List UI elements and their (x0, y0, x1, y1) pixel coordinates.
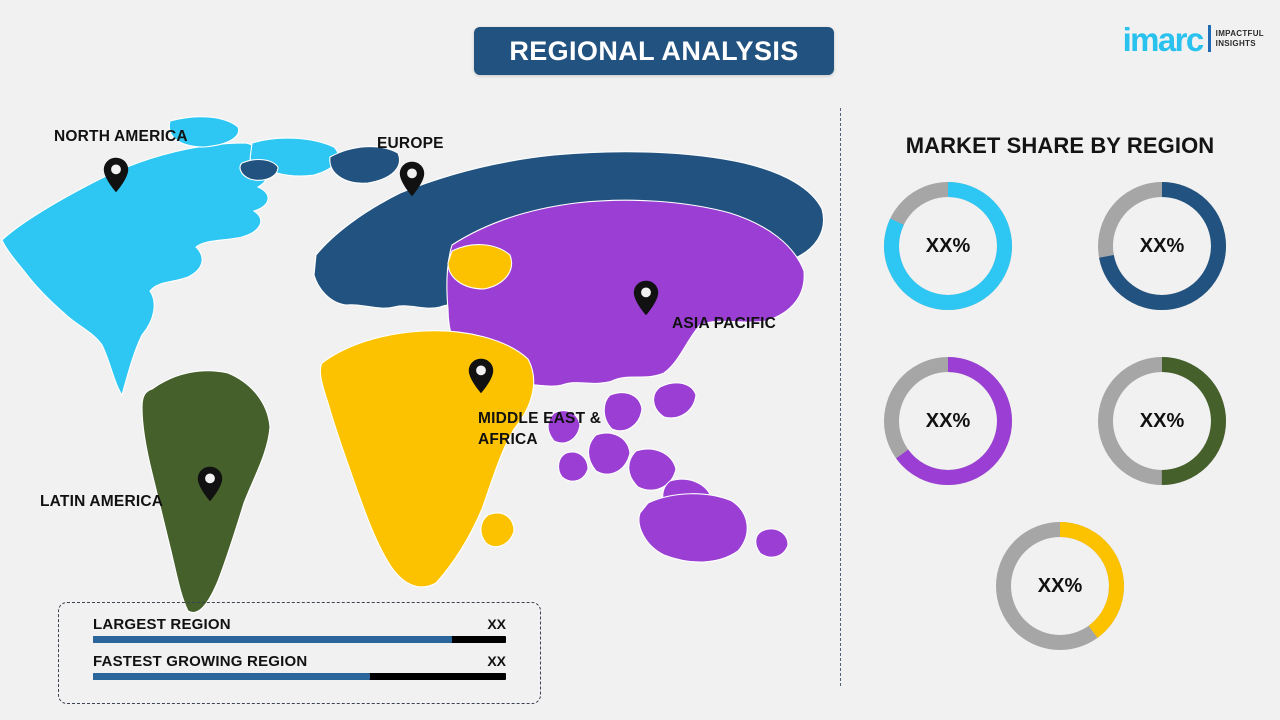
imarc-logo: imarc IMPACTFUL INSIGHTS (1123, 22, 1264, 55)
donut-chart-3: XX% (884, 357, 1012, 485)
region-summary-label: LARGEST REGION (93, 616, 231, 633)
logo-tagline-line2: INSIGHTS (1216, 39, 1264, 49)
map-region-asia (559, 452, 588, 481)
map-pin-north-america[interactable] (103, 157, 129, 198)
map-region-africa (481, 513, 514, 547)
region-summary-row: FASTEST GROWING REGIONXX (93, 653, 506, 680)
region-summary-rows: LARGEST REGIONXXFASTEST GROWING REGIONXX (93, 616, 506, 680)
logo-tagline-line1: IMPACTFUL (1216, 29, 1264, 39)
logo-divider-bar (1208, 25, 1211, 52)
region-summary-label: FASTEST GROWING REGION (93, 653, 307, 670)
donut-chart-2: XX% (1098, 182, 1226, 310)
donut-value-label: XX% (884, 357, 1012, 485)
region-summary-fill (93, 673, 370, 680)
location-pin-icon (103, 157, 129, 193)
donut-chart-1: XX% (884, 182, 1012, 310)
logo-wordmark: imarc (1123, 23, 1203, 56)
map-label-latin-america: LATIN AMERICA (40, 492, 163, 513)
location-pin-icon (633, 280, 659, 316)
map-pin-europe[interactable] (399, 161, 425, 202)
region-summary-track (93, 673, 506, 680)
region-summary-row: LARGEST REGIONXX (93, 616, 506, 643)
region-summary-row-top: LARGEST REGIONXX (93, 616, 506, 636)
map-pin-middle-east-africa[interactable] (468, 358, 494, 399)
region-summary-fill (93, 636, 452, 643)
region-summary-row-top: FASTEST GROWING REGIONXX (93, 653, 506, 673)
map-region-africa (320, 331, 533, 587)
map-label-middle-east-africa: MIDDLE EAST & AFRICA (478, 409, 601, 451)
region-summary-box: LARGEST REGIONXXFASTEST GROWING REGIONXX (58, 602, 541, 704)
region-summary-track (93, 636, 506, 643)
donut-chart-5: XX% (996, 522, 1124, 650)
map-label-asia-pacific: ASIA PACIFIC (672, 314, 776, 335)
page-title: REGIONAL ANALYSIS (509, 36, 798, 67)
map-label-europe: EUROPE (377, 134, 444, 155)
map-region-asia (604, 393, 642, 431)
location-pin-icon (197, 466, 223, 502)
location-pin-icon (468, 358, 494, 394)
map-region-asia (654, 383, 696, 418)
map-region-north-america (2, 143, 268, 395)
map-pin-latin-america[interactable] (197, 466, 223, 507)
donut-value-label: XX% (884, 182, 1012, 310)
location-pin-icon (399, 161, 425, 197)
chart-title: MARKET SHARE BY REGION (840, 133, 1280, 159)
region-summary-value: XX (487, 616, 506, 632)
donut-value-label: XX% (1098, 182, 1226, 310)
world-map: NORTH AMERICAEUROPEASIA PACIFICMIDDLE EA… (0, 95, 830, 615)
logo-tagline: IMPACTFUL INSIGHTS (1216, 29, 1264, 49)
donut-value-label: XX% (996, 522, 1124, 650)
donut-value-label: XX% (1098, 357, 1226, 485)
page-title-banner: REGIONAL ANALYSIS (474, 27, 834, 75)
map-label-north-america: NORTH AMERICA (54, 127, 188, 148)
map-region-oceania (756, 529, 788, 557)
map-region-europe (240, 160, 278, 181)
map-pin-asia-pacific[interactable] (633, 280, 659, 321)
map-region-oceania (639, 494, 747, 562)
donut-chart-4: XX% (1098, 357, 1226, 485)
region-summary-value: XX (487, 653, 506, 669)
